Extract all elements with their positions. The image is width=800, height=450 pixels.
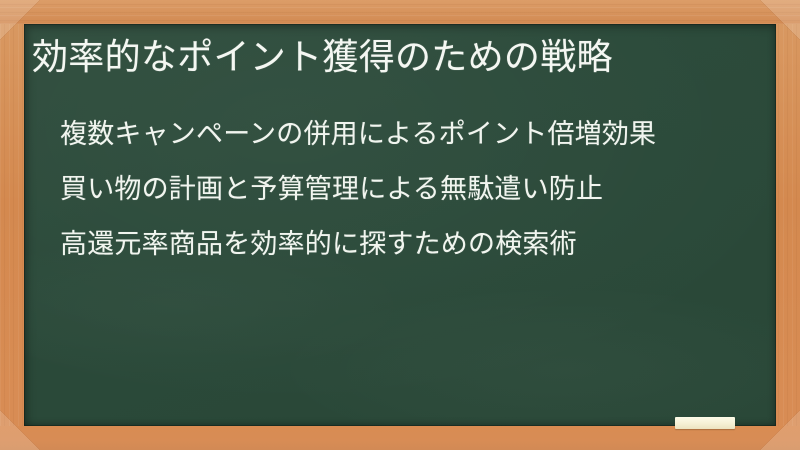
slide-title: 効率的なポイント獲得のための戦略: [32, 30, 768, 84]
bullet-list: 複数キャンペーンの併用によるポイント倍増効果 買い物の計画と予算管理による無駄遣…: [60, 107, 766, 272]
chalkboard-slide: 効率的なポイント獲得のための戦略 複数キャンペーンの併用によるポイント倍増効果 …: [0, 0, 800, 450]
list-item: 複数キャンペーンの併用によるポイント倍増効果: [60, 107, 766, 162]
frame-rail-top: [0, 0, 800, 24]
frame-rail-bottom-ledge: [0, 426, 800, 450]
chalk-stick-icon: [675, 417, 735, 429]
list-item: 高還元率商品を効率的に探すための検索術: [60, 217, 766, 272]
chalkboard-surface: 効率的なポイント獲得のための戦略 複数キャンペーンの併用によるポイント倍増効果 …: [24, 24, 776, 426]
list-item: 買い物の計画と予算管理による無駄遣い防止: [60, 162, 766, 217]
chalkboard-content: 効率的なポイント獲得のための戦略 複数キャンペーンの併用によるポイント倍増効果 …: [24, 24, 776, 426]
